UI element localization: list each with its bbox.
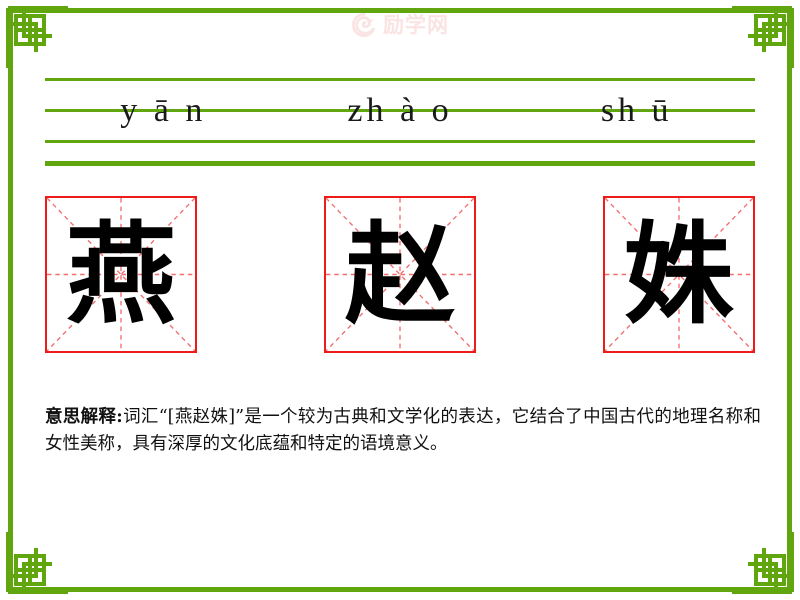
watermark: 励学网	[0, 8, 800, 42]
pinyin-syllable-2: zh à o	[282, 94, 519, 128]
pinyin-syllable-1: y ā n	[45, 94, 282, 128]
chinese-fret-corner-icon	[730, 6, 794, 70]
chinese-fret-corner-icon	[730, 530, 794, 594]
character-box-2: 赵	[324, 196, 476, 353]
chinese-fret-corner-icon	[6, 530, 70, 594]
chinese-fret-corner-icon	[6, 6, 70, 70]
staff-line-4	[45, 161, 755, 166]
frame-border-top	[8, 8, 792, 13]
character-glyph-2: 赵	[326, 198, 474, 351]
frame-border-bottom	[8, 587, 792, 592]
worksheet-page: 励学网 y ā n zh à o sh ū 燕	[0, 0, 800, 600]
explanation-body: 词汇“[燕赵姝]”是一个较为古典和文学化的表达，它结合了中国古代的地理名称和女性…	[45, 407, 761, 454]
explanation-label: 意思解释:	[45, 407, 123, 427]
character-glyph-1: 燕	[47, 198, 195, 351]
character-glyph-3: 姝	[605, 198, 753, 351]
explanation-block: 意思解释:词汇“[燕赵姝]”是一个较为古典和文学化的表达，它结合了中国古代的地理…	[45, 404, 761, 458]
frame-border-right	[787, 8, 792, 592]
frame-border-left	[8, 8, 13, 592]
character-grid-row: 燕 赵 姝	[45, 196, 755, 356]
swirl-bird-logo-icon	[351, 12, 377, 38]
character-box-1: 燕	[45, 196, 197, 353]
watermark-text: 励学网	[383, 15, 449, 36]
pinyin-syllable-3: sh ū	[518, 94, 755, 128]
pinyin-row: y ā n zh à o sh ū	[45, 78, 755, 144]
pinyin-staff: y ā n zh à o sh ū	[45, 78, 755, 164]
character-box-3: 姝	[603, 196, 755, 353]
